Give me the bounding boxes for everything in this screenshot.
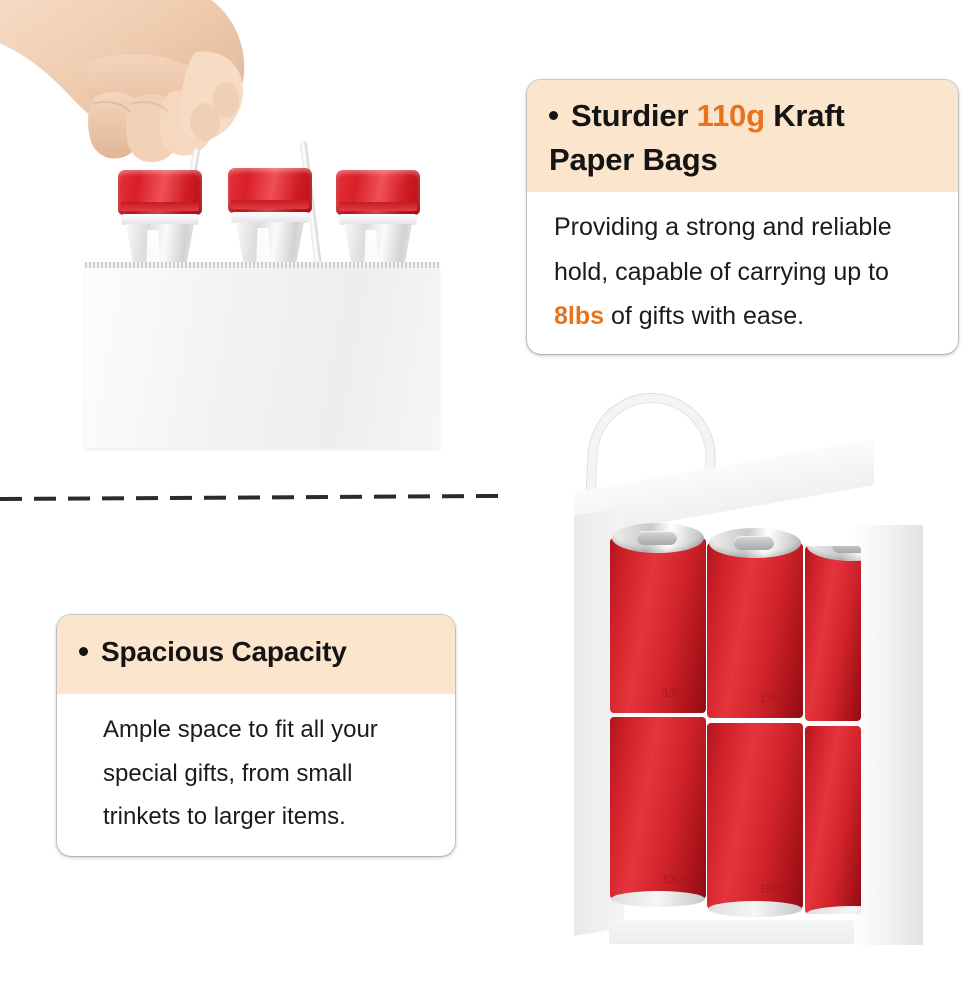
bullet-icon bbox=[79, 647, 88, 656]
hand-illustration bbox=[0, 0, 340, 180]
can-volume-label: 330ml bbox=[758, 881, 794, 897]
feature-card-capacity: Spacious Capacity Ample space to fit all… bbox=[57, 615, 455, 856]
feature-card-body: Ample space to fit all your special gift… bbox=[57, 694, 455, 856]
can-volume-label: 330ml bbox=[661, 871, 697, 887]
can-volume-label: 330ml bbox=[758, 690, 794, 706]
can-bottom-rim bbox=[708, 901, 802, 917]
body-segment: of gifts with ease. bbox=[604, 302, 804, 330]
soda-can-top-middle: 330ml bbox=[707, 543, 803, 718]
kraft-bag-front-panel bbox=[85, 268, 440, 448]
kraft-bag-bottom-edge bbox=[609, 920, 854, 944]
title-segment: Sturdier bbox=[571, 98, 697, 133]
product-photo-bottles bbox=[0, 0, 500, 470]
bottle-cap bbox=[336, 170, 420, 215]
product-photo-cans: 330ml 330ml 330ml 330ml bbox=[555, 380, 965, 980]
feature-card-title: Spacious Capacity bbox=[79, 632, 435, 671]
feature-card-sturdier: Sturdier 110g Kraft Paper Bags Providing… bbox=[527, 80, 958, 354]
can-volume-label: 330ml bbox=[661, 685, 697, 701]
title-segment: Spacious Capacity bbox=[101, 636, 347, 667]
body-highlight: 8lbs bbox=[554, 302, 604, 330]
bottle-cap bbox=[118, 170, 202, 215]
soda-can-top-right bbox=[805, 546, 861, 721]
can-bottom-rim bbox=[806, 906, 861, 914]
soda-can-bottom-middle: 330ml bbox=[707, 723, 803, 909]
bottle-ring bbox=[339, 214, 417, 225]
bottle-ring bbox=[121, 214, 199, 225]
feature-card-header: Sturdier 110g Kraft Paper Bags bbox=[527, 80, 958, 192]
soda-can-bottom-right bbox=[805, 726, 861, 914]
dashed-divider bbox=[0, 494, 508, 501]
can-pull-tab bbox=[637, 531, 677, 545]
infographic-canvas: Sturdier 110g Kraft Paper Bags Providing… bbox=[0, 0, 965, 1000]
kraft-bag-right-side-panel bbox=[851, 525, 923, 945]
feature-card-header: Spacious Capacity bbox=[57, 615, 455, 694]
can-pull-tab bbox=[734, 536, 774, 550]
bottle-ring bbox=[231, 212, 309, 223]
body-segment: Ample space to fit all your special gift… bbox=[103, 716, 378, 830]
soda-can-top-left: 330ml bbox=[610, 538, 706, 713]
body-segment: Providing a strong and reliable hold, ca… bbox=[554, 213, 892, 286]
bottle-cap bbox=[228, 168, 312, 213]
feature-card-title: Sturdier 110g Kraft Paper Bags bbox=[549, 94, 938, 182]
can-bottom-rim bbox=[611, 891, 705, 907]
can-pull-tab bbox=[832, 546, 861, 553]
title-highlight: 110g bbox=[697, 98, 765, 133]
bullet-icon bbox=[549, 111, 558, 120]
feature-card-body: Providing a strong and reliable hold, ca… bbox=[527, 192, 958, 354]
soda-can-bottom-left: 330ml bbox=[610, 717, 706, 899]
